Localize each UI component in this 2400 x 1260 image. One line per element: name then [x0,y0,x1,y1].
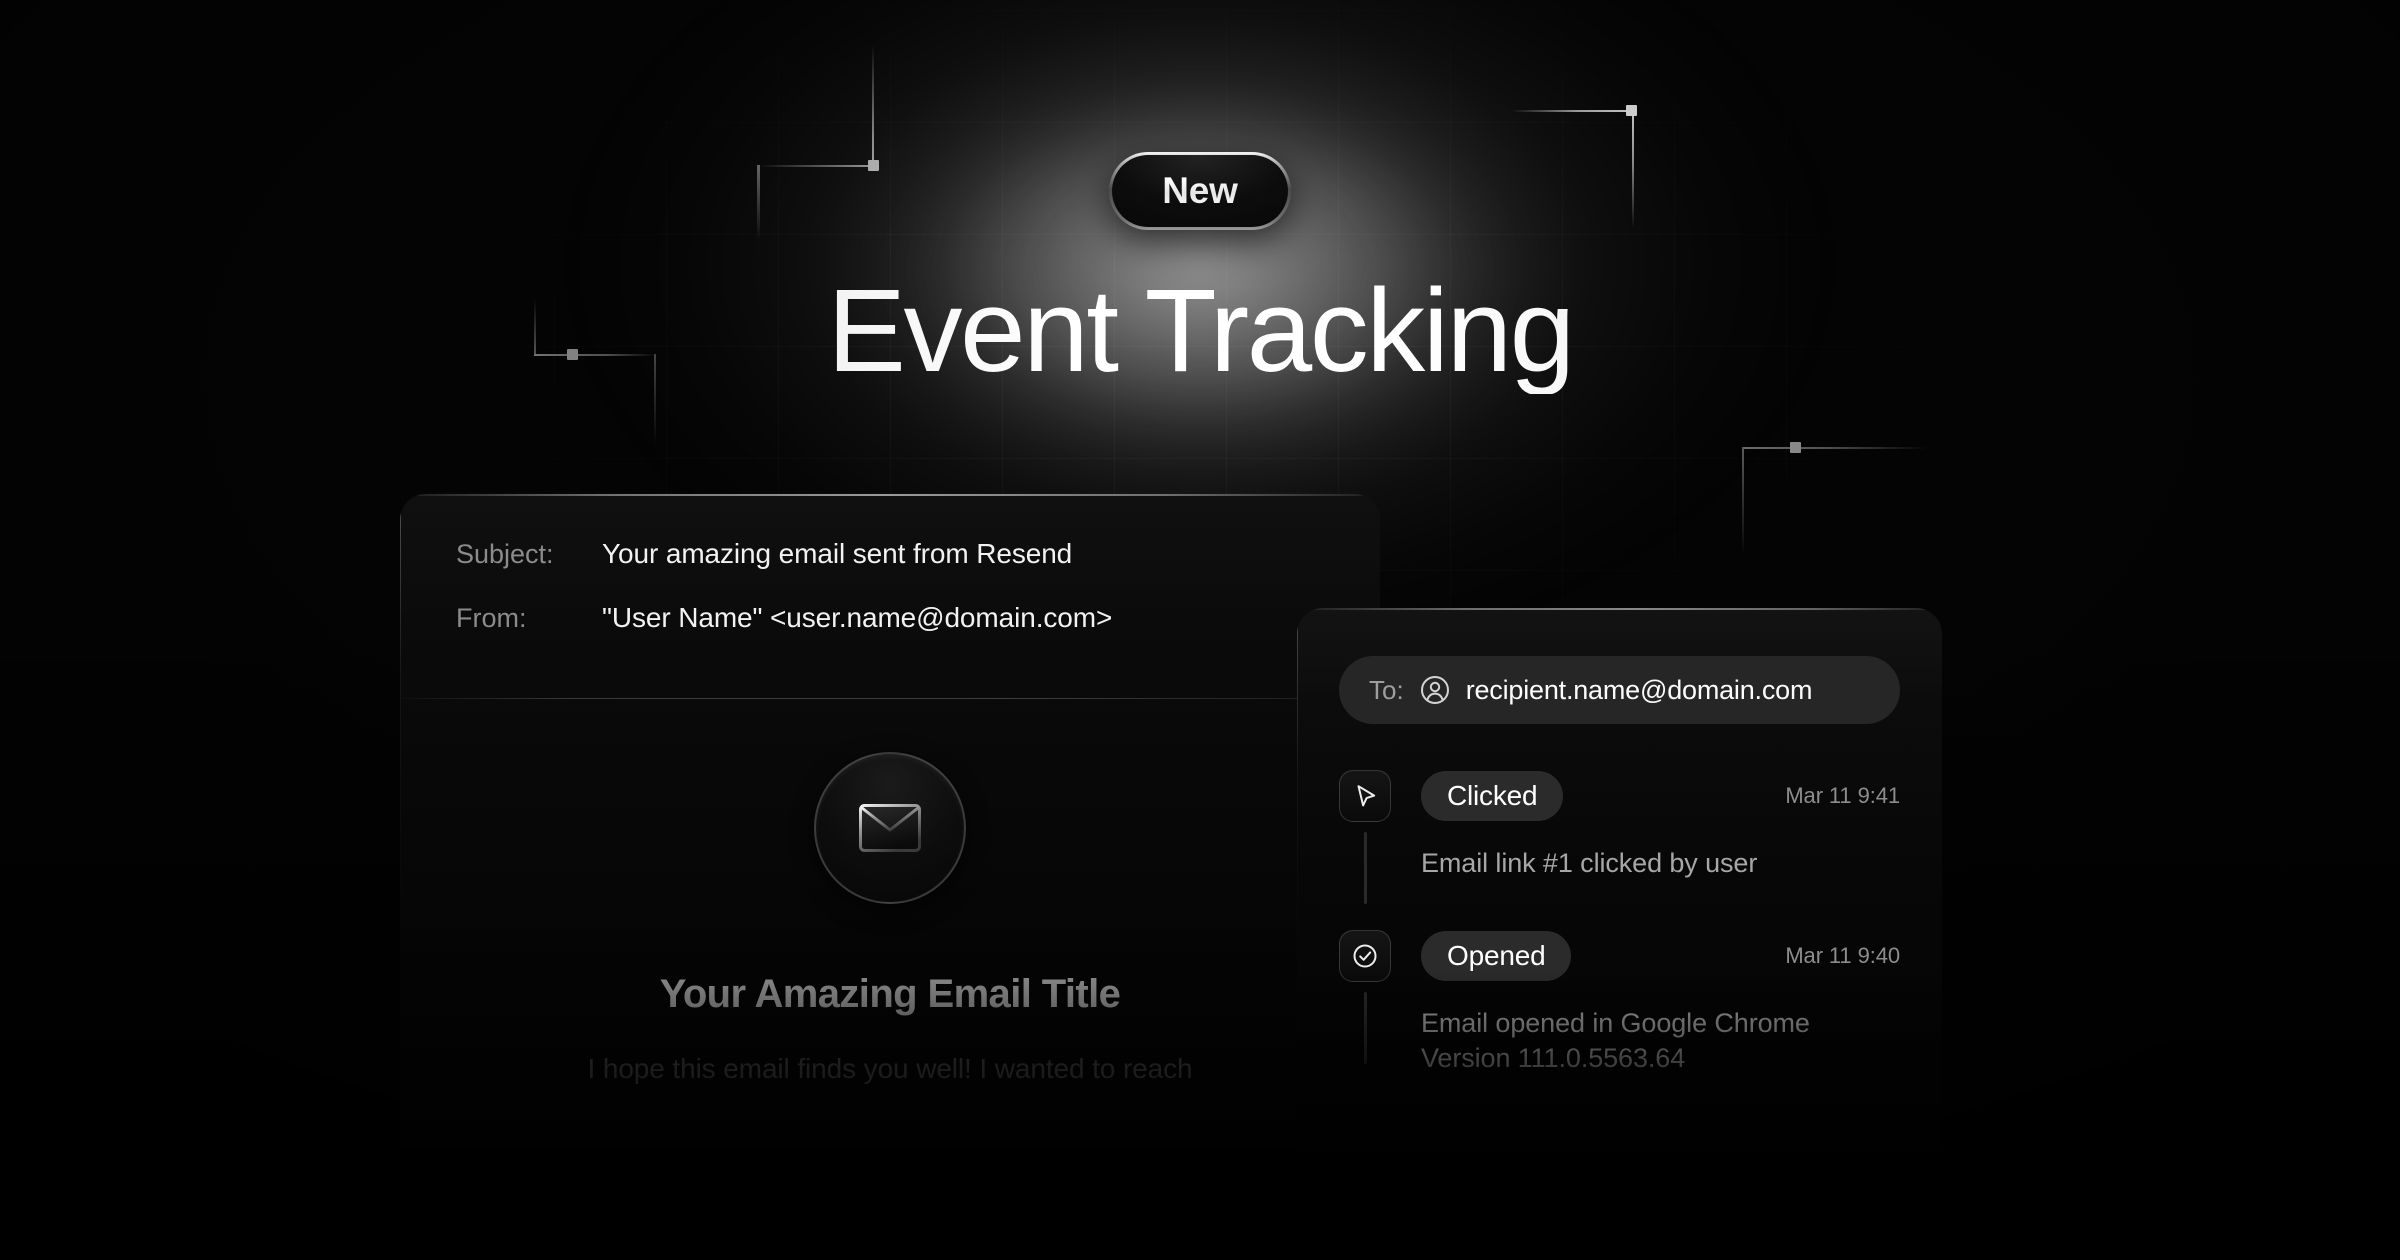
status-badge: Opened [1421,931,1571,981]
status-badge: Clicked [1421,771,1563,821]
email-body: Your Amazing Email Title I hope this ema… [400,666,1380,1085]
recipient-email: recipient.name@domain.com [1466,675,1813,706]
email-subject-label: Subject: [456,539,602,570]
email-from-label: From: [456,603,602,634]
recipient-field[interactable]: To: recipient.name@domain.com [1339,656,1900,724]
new-badge: New [1109,152,1291,230]
event-tracking-panel: To: recipient.name@domain.com Clicked Ma… [1297,608,1942,1198]
person-circle-icon [1420,675,1450,705]
event-description: Email link #1 clicked by user [1421,846,1900,882]
timeline-event-opened[interactable]: Opened Mar 11 9:40 Email opened in Googl… [1339,930,1900,1077]
event-timeline: Clicked Mar 11 9:41 Email link #1 clicke… [1297,770,1942,1077]
timeline-connector [1364,992,1367,1064]
envelope-icon-container [814,752,966,904]
event-timestamp: Mar 11 9:40 [1785,943,1900,969]
cursor-arrow-icon-container [1339,770,1391,822]
email-header: Subject: Your amazing email sent from Re… [400,494,1380,666]
recipient-label: To: [1369,675,1404,706]
email-preview-card: Subject: Your amazing email sent from Re… [400,494,1380,1194]
envelope-icon [859,804,921,852]
hero-section: New Event Tracking Subject: Your amazing… [0,0,2400,1260]
email-body-text: I hope this email finds you well! I want… [587,1053,1192,1085]
email-from-value: "User Name" <user.name@domain.com> [602,602,1112,634]
cursor-arrow-icon [1351,782,1379,810]
page-title: Event Tracking [0,270,2400,394]
email-subject-row: Subject: Your amazing email sent from Re… [400,538,1380,602]
new-badge-label: New [1162,170,1237,212]
timeline-connector [1364,832,1367,904]
email-from-row: From: "User Name" <user.name@domain.com> [400,602,1380,666]
email-body-title: Your Amazing Email Title [660,972,1121,1017]
event-timestamp: Mar 11 9:41 [1785,783,1900,809]
check-circle-icon-container [1339,930,1391,982]
timeline-event-clicked[interactable]: Clicked Mar 11 9:41 Email link #1 clicke… [1339,770,1900,882]
event-description: Email opened in Google Chrome Version 11… [1421,1006,1900,1077]
check-circle-icon [1351,942,1379,970]
email-subject-value: Your amazing email sent from Resend [602,538,1072,570]
